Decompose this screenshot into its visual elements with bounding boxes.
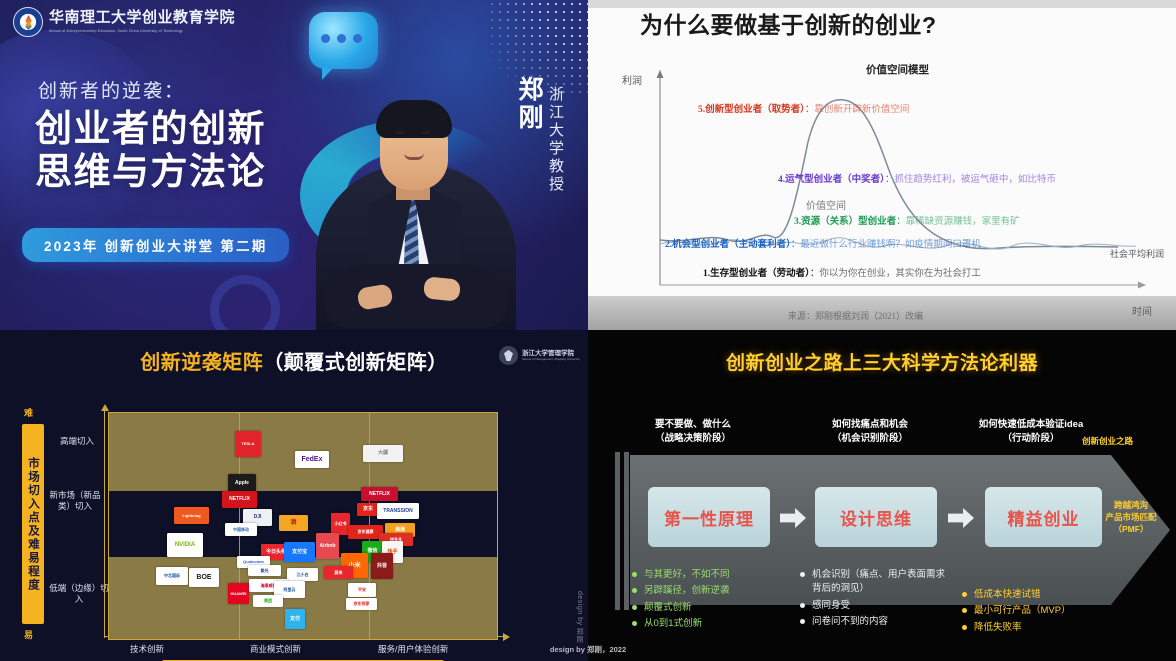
speaker-name: 郑刚: [515, 76, 543, 132]
zju-name-cn: 浙江大学管理学院: [522, 350, 574, 357]
annotation-1: 1.生存型创业者（劳动者）：你以为你在创业，其实你在为社会打工: [703, 268, 981, 281]
annotation-2: 2.机会型创业者（主动套利者）：最近做什么行业赚钱啊？如疫情期间口罩机: [665, 239, 995, 252]
university-name-en: School of Entrepreneurship Education, So…: [49, 29, 235, 33]
annotation-3: 3.资源（关系）型创业者：靠稀缺资源赚钱，家里有矿: [794, 216, 1084, 229]
speaker-title: 浙江大学教授: [545, 86, 566, 194]
matrix-logo-chip: 中芯国际: [156, 567, 188, 585]
y-axis-banner: 市场切入点及难易程度: [22, 424, 44, 624]
matrix-title-main: 创新逆袭矩阵: [140, 352, 263, 374]
matrix-logo-chip: 京东到家: [346, 598, 377, 610]
matrix-logo-chip: Apple: [228, 474, 256, 492]
avg-profit-annotation: 社会平均利润: [1110, 248, 1164, 260]
innovation-matrix-slide: 创新逆袭矩阵（颠覆式创新矩阵） 浙江大学管理学院 School of Manag…: [0, 330, 588, 661]
matrix-plot-area: TESLAFedEx大疆AppleNETFLIXNETFLIXLightning…: [108, 412, 498, 640]
matrix-logo-chip: HUAWEI: [228, 583, 249, 604]
matrix-credit: design by 郑刚: [574, 591, 584, 643]
matrix-logo-chip: TRANSSION: [377, 503, 419, 519]
matrix-logo-chip: NETFLIX: [361, 487, 398, 501]
speaker-portrait: [310, 58, 522, 330]
matrix-logo-chip: 抖音: [371, 553, 393, 579]
poster-slide: 华南理工大学创业教育学院 School of Entrepreneurship …: [0, 0, 588, 330]
matrix-logo-chip: Airbnb: [316, 533, 339, 559]
y-axis-top-mark: 难: [24, 406, 33, 419]
matrix-logo-chip: FedEx: [295, 451, 329, 468]
matrix-logo-chip: 江小白: [287, 568, 318, 581]
y-axis-bottom-mark: 易: [24, 628, 33, 641]
matrix-logo-chip: 美团: [253, 595, 283, 607]
matrix-logo-chip: 京东健康: [348, 525, 383, 539]
methods-title: 创新创业之路上三大科学方法论利器: [588, 348, 1176, 375]
matrix-logo-chip: 支付宝: [284, 542, 315, 562]
y-category-low-end: 低端（边缘）切入: [48, 583, 110, 605]
slide-bottom-shade: [588, 296, 1176, 330]
poster-title: 创业者的创新 思维与方法论: [35, 108, 266, 194]
matrix-logo-chip: 大疆: [363, 445, 403, 462]
zju-logo: 浙江大学管理学院 School of Management, Zhejiang …: [499, 346, 580, 365]
x-category-business-model: 商业模式创新: [250, 643, 301, 655]
methodology-slide: 创新创业之路上三大科学方法论利器: [588, 330, 1176, 661]
y-category-high: 高端切入: [46, 436, 108, 447]
matrix-logo-chip: TESLA: [235, 431, 261, 457]
zju-name-en: School of Management, Zhejiang Universit…: [522, 358, 580, 362]
annotation-4: 4.运气型创业者（中奖者）：抓住趋势红利，被运气砸中，如比特币: [778, 174, 1078, 187]
university-logo: 华南理工大学创业教育学院 School of Entrepreneurship …: [13, 7, 235, 37]
matrix-logo-chip: Lightning: [174, 507, 209, 524]
matrix-logo-chip: NETFLIX: [222, 491, 257, 508]
matrix-logo-chip: 中国移动: [225, 523, 257, 536]
value-space-slide: 为什么要做基于创新的创业? 价值空间模型 利润 时间 价值空间 社会平均利润 5…: [588, 0, 1176, 330]
y-axis-label: 利润: [622, 72, 642, 87]
university-emblem-icon: [13, 7, 43, 37]
matrix-logo-chip: 京东: [357, 503, 379, 516]
matrix-logo-chip: 平安: [348, 583, 376, 597]
decorative-ring: [210, 275, 280, 330]
matrix-logo-chip: BOE: [189, 568, 219, 587]
matrix-y-axis: [104, 410, 105, 638]
slide-title: 为什么要做基于创新的创业?: [640, 6, 937, 40]
matrix-logo-chip: 蔚来: [324, 566, 353, 579]
matrix-title-paren: （颠覆式创新矩阵）: [263, 352, 448, 374]
y-category-new-market: 新市场（新品类）切入: [44, 490, 106, 512]
matrix-logo-chip: 支付: [285, 609, 305, 629]
value-space-annotation: 价值空间: [806, 200, 846, 214]
matrix-logo-chip: NVIDIA: [167, 533, 203, 557]
matrix-logo-chip: 酒: [279, 515, 308, 531]
event-badge: 2023年 创新创业大讲堂 第二期: [22, 228, 289, 262]
matrix-logo-chip: 紫光: [248, 565, 281, 576]
university-name-cn: 华南理工大学创业教育学院: [49, 11, 235, 26]
poster-subtitle: 创新者的逆袭：: [38, 76, 185, 103]
zju-emblem-icon: [499, 346, 518, 365]
poster-title-line1: 创业者的创新: [35, 108, 266, 151]
x-category-service: 服务/用户体验创新: [378, 643, 448, 655]
four-slide-grid: 华南理工大学创业教育学院 School of Entrepreneurship …: [0, 0, 1176, 661]
poster-title-line2: 思维与方法论: [35, 151, 266, 194]
x-category-tech: 技术创新: [130, 643, 164, 655]
annotation-5: 5.创新型创业者（取势者）：靠创新开辟新价值空间: [698, 104, 909, 117]
